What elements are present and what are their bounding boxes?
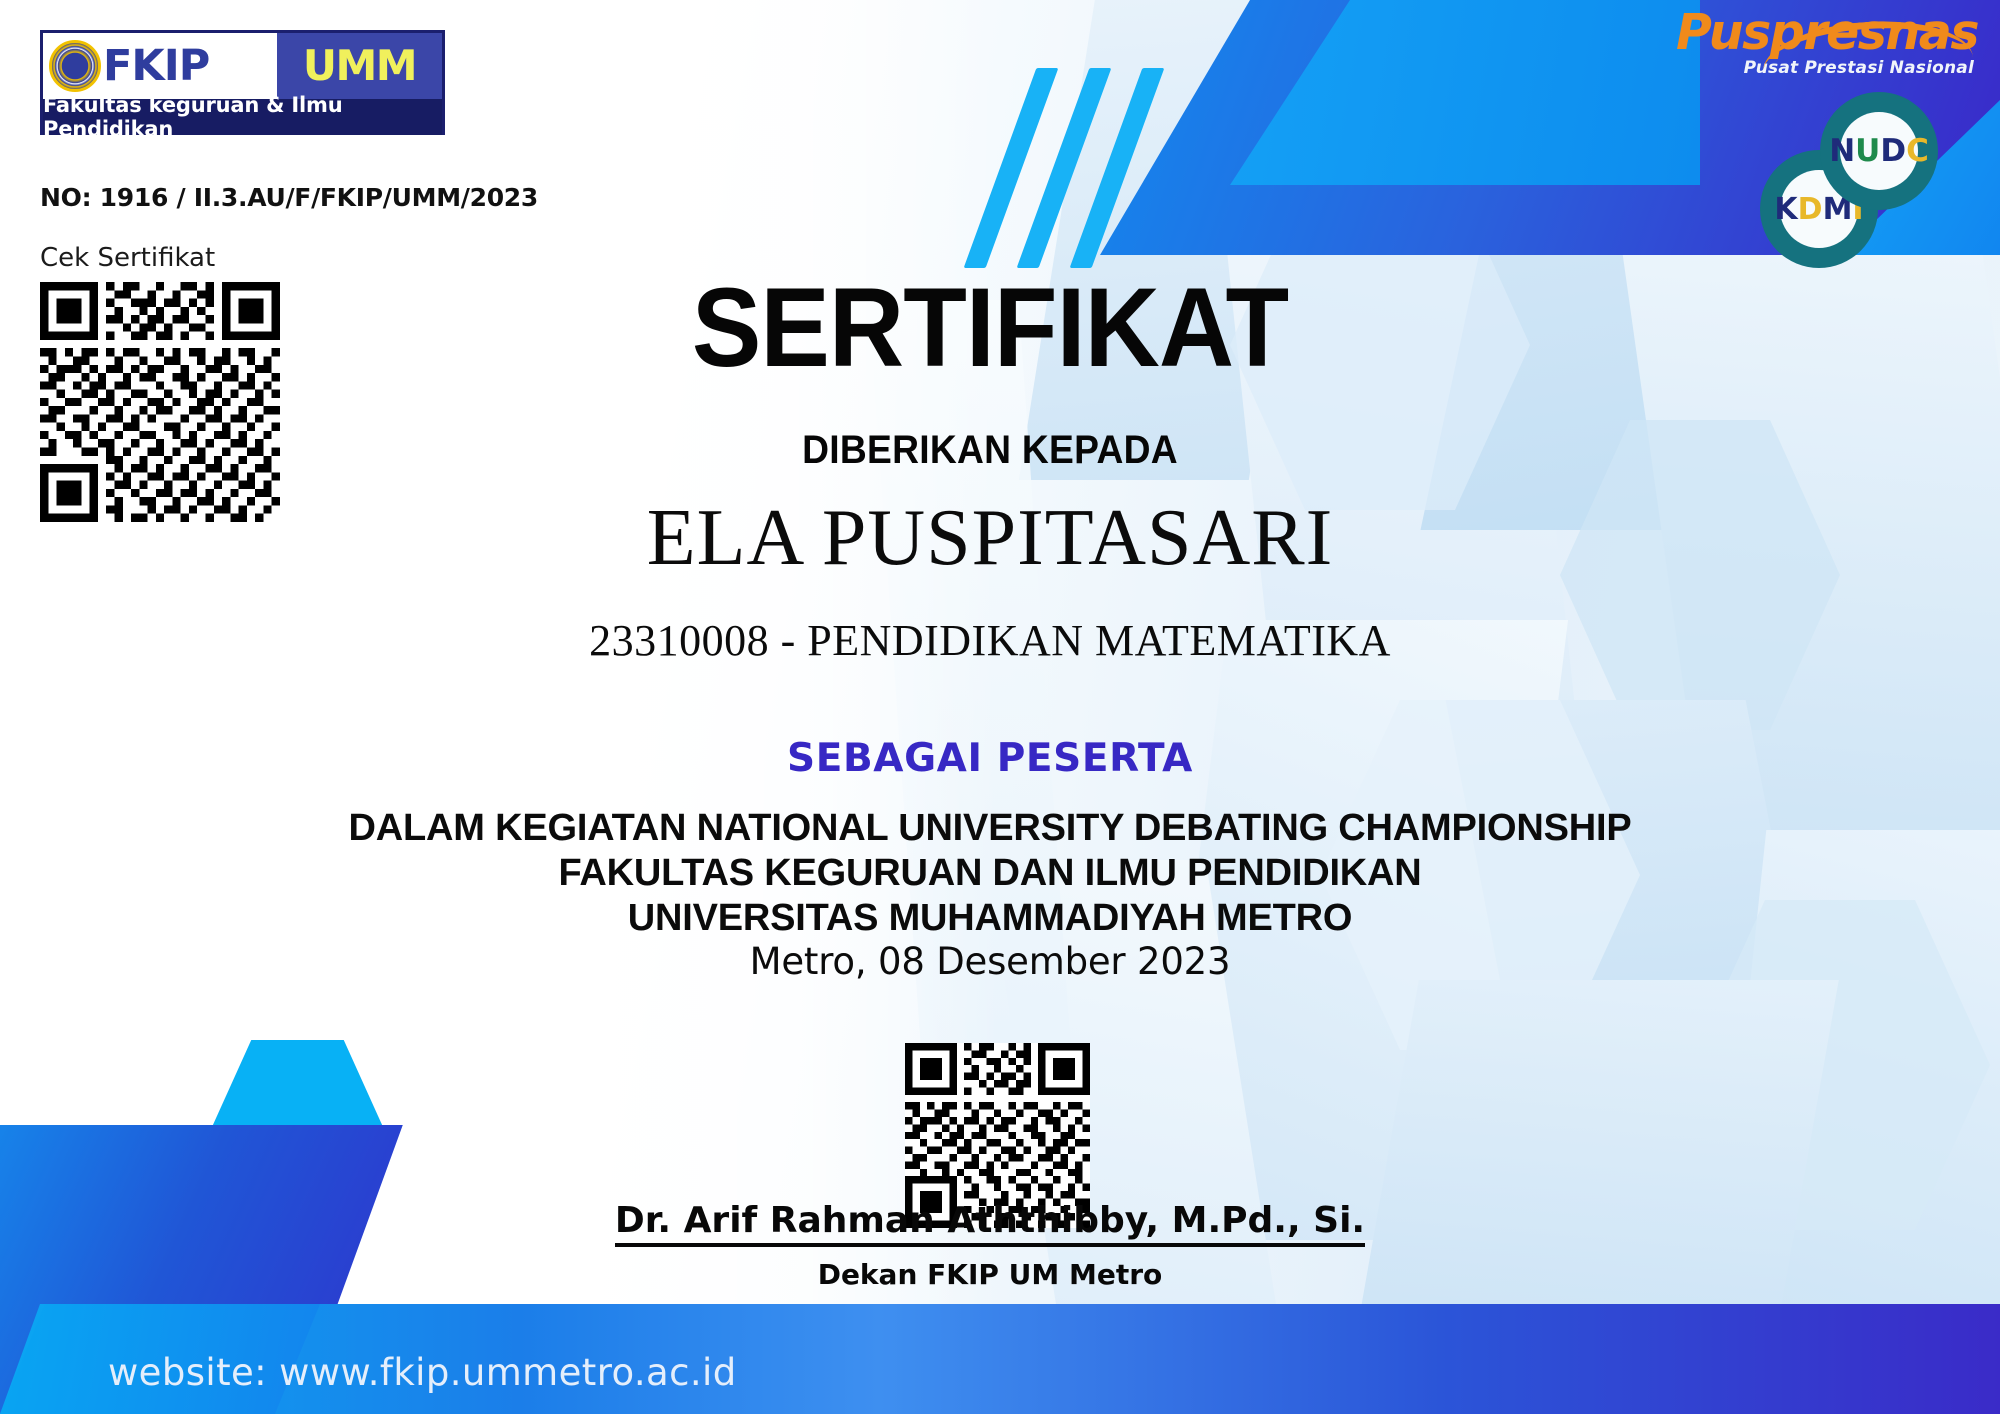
logo-top-row: FKIP UMM — [43, 33, 442, 99]
signatory-name: Dr. Arif Rahman Aththibby, M.Pd., Si. — [180, 1200, 1800, 1241]
logo-tagline: Fakultas keguruan & Ilmu Pendidikan — [43, 99, 442, 135]
nudc-badge-icon: NUDC — [1820, 92, 1938, 210]
nudc-letter-d: D — [1880, 133, 1906, 169]
signatory-position: Dekan FKIP UM Metro — [180, 1258, 1800, 1291]
awarded-to-label: DIBERIKAN KEPADA — [237, 428, 1744, 473]
event-description: DALAM KEGIATAN NATIONAL UNIVERSITY DEBAT… — [180, 806, 1800, 984]
logo-umm-text: UMM — [303, 45, 416, 87]
umm-seal-icon — [49, 40, 101, 92]
nudc-badge-inner: NUDC — [1840, 112, 1918, 190]
logo-right-block: UMM — [277, 33, 442, 99]
verification-label: Cek Sertifikat — [40, 243, 215, 273]
puspresnas-logo: Puspresnas Pusat Prestasi Nasional — [1676, 8, 1978, 77]
certificate-page: FKIP UMM Fakultas keguruan & Ilmu Pendid… — [0, 0, 2000, 1414]
fkip-umm-logo: FKIP UMM Fakultas keguruan & Ilmu Pendid… — [40, 30, 445, 135]
kdmi-letter-k: K — [1774, 192, 1797, 227]
footer-website: website: www.fkip.ummetro.ac.id — [108, 1351, 737, 1394]
recipient-name: ELA PUSPITASARI — [180, 492, 1800, 584]
signatory-name-text: Dr. Arif Rahman Aththibby, M.Pd., Si. — [615, 1200, 1365, 1247]
event-line-1: DALAM KEGIATAN NATIONAL UNIVERSITY DEBAT… — [180, 806, 1800, 851]
logo-fkip-text: FKIP — [103, 45, 209, 88]
event-place-date: Metro, 08 Desember 2023 — [180, 940, 1800, 984]
nudc-letter-c: C — [1906, 133, 1929, 169]
nudc-letter-u: U — [1855, 133, 1880, 169]
certificate-title: SERTIFIKAT — [237, 272, 1744, 384]
nudc-letter-n: N — [1829, 133, 1855, 169]
event-line-2: FAKULTAS KEGURUAN DAN ILMU PENDIDIKAN — [180, 851, 1800, 896]
logo-left-block: FKIP — [43, 33, 277, 99]
event-line-3: UNIVERSITAS MUHAMMADIYAH METRO — [180, 896, 1800, 941]
recipient-id-program: 23310008 - PENDIDIKAN MATEMATIKA — [180, 615, 1800, 666]
certificate-number: NO: 1916 / II.3.AU/F/FKIP/UMM/2023 — [40, 183, 538, 212]
recipient-role: SEBAGAI PESERTA — [180, 736, 1800, 781]
kdmi-letter-d: D — [1798, 192, 1823, 227]
